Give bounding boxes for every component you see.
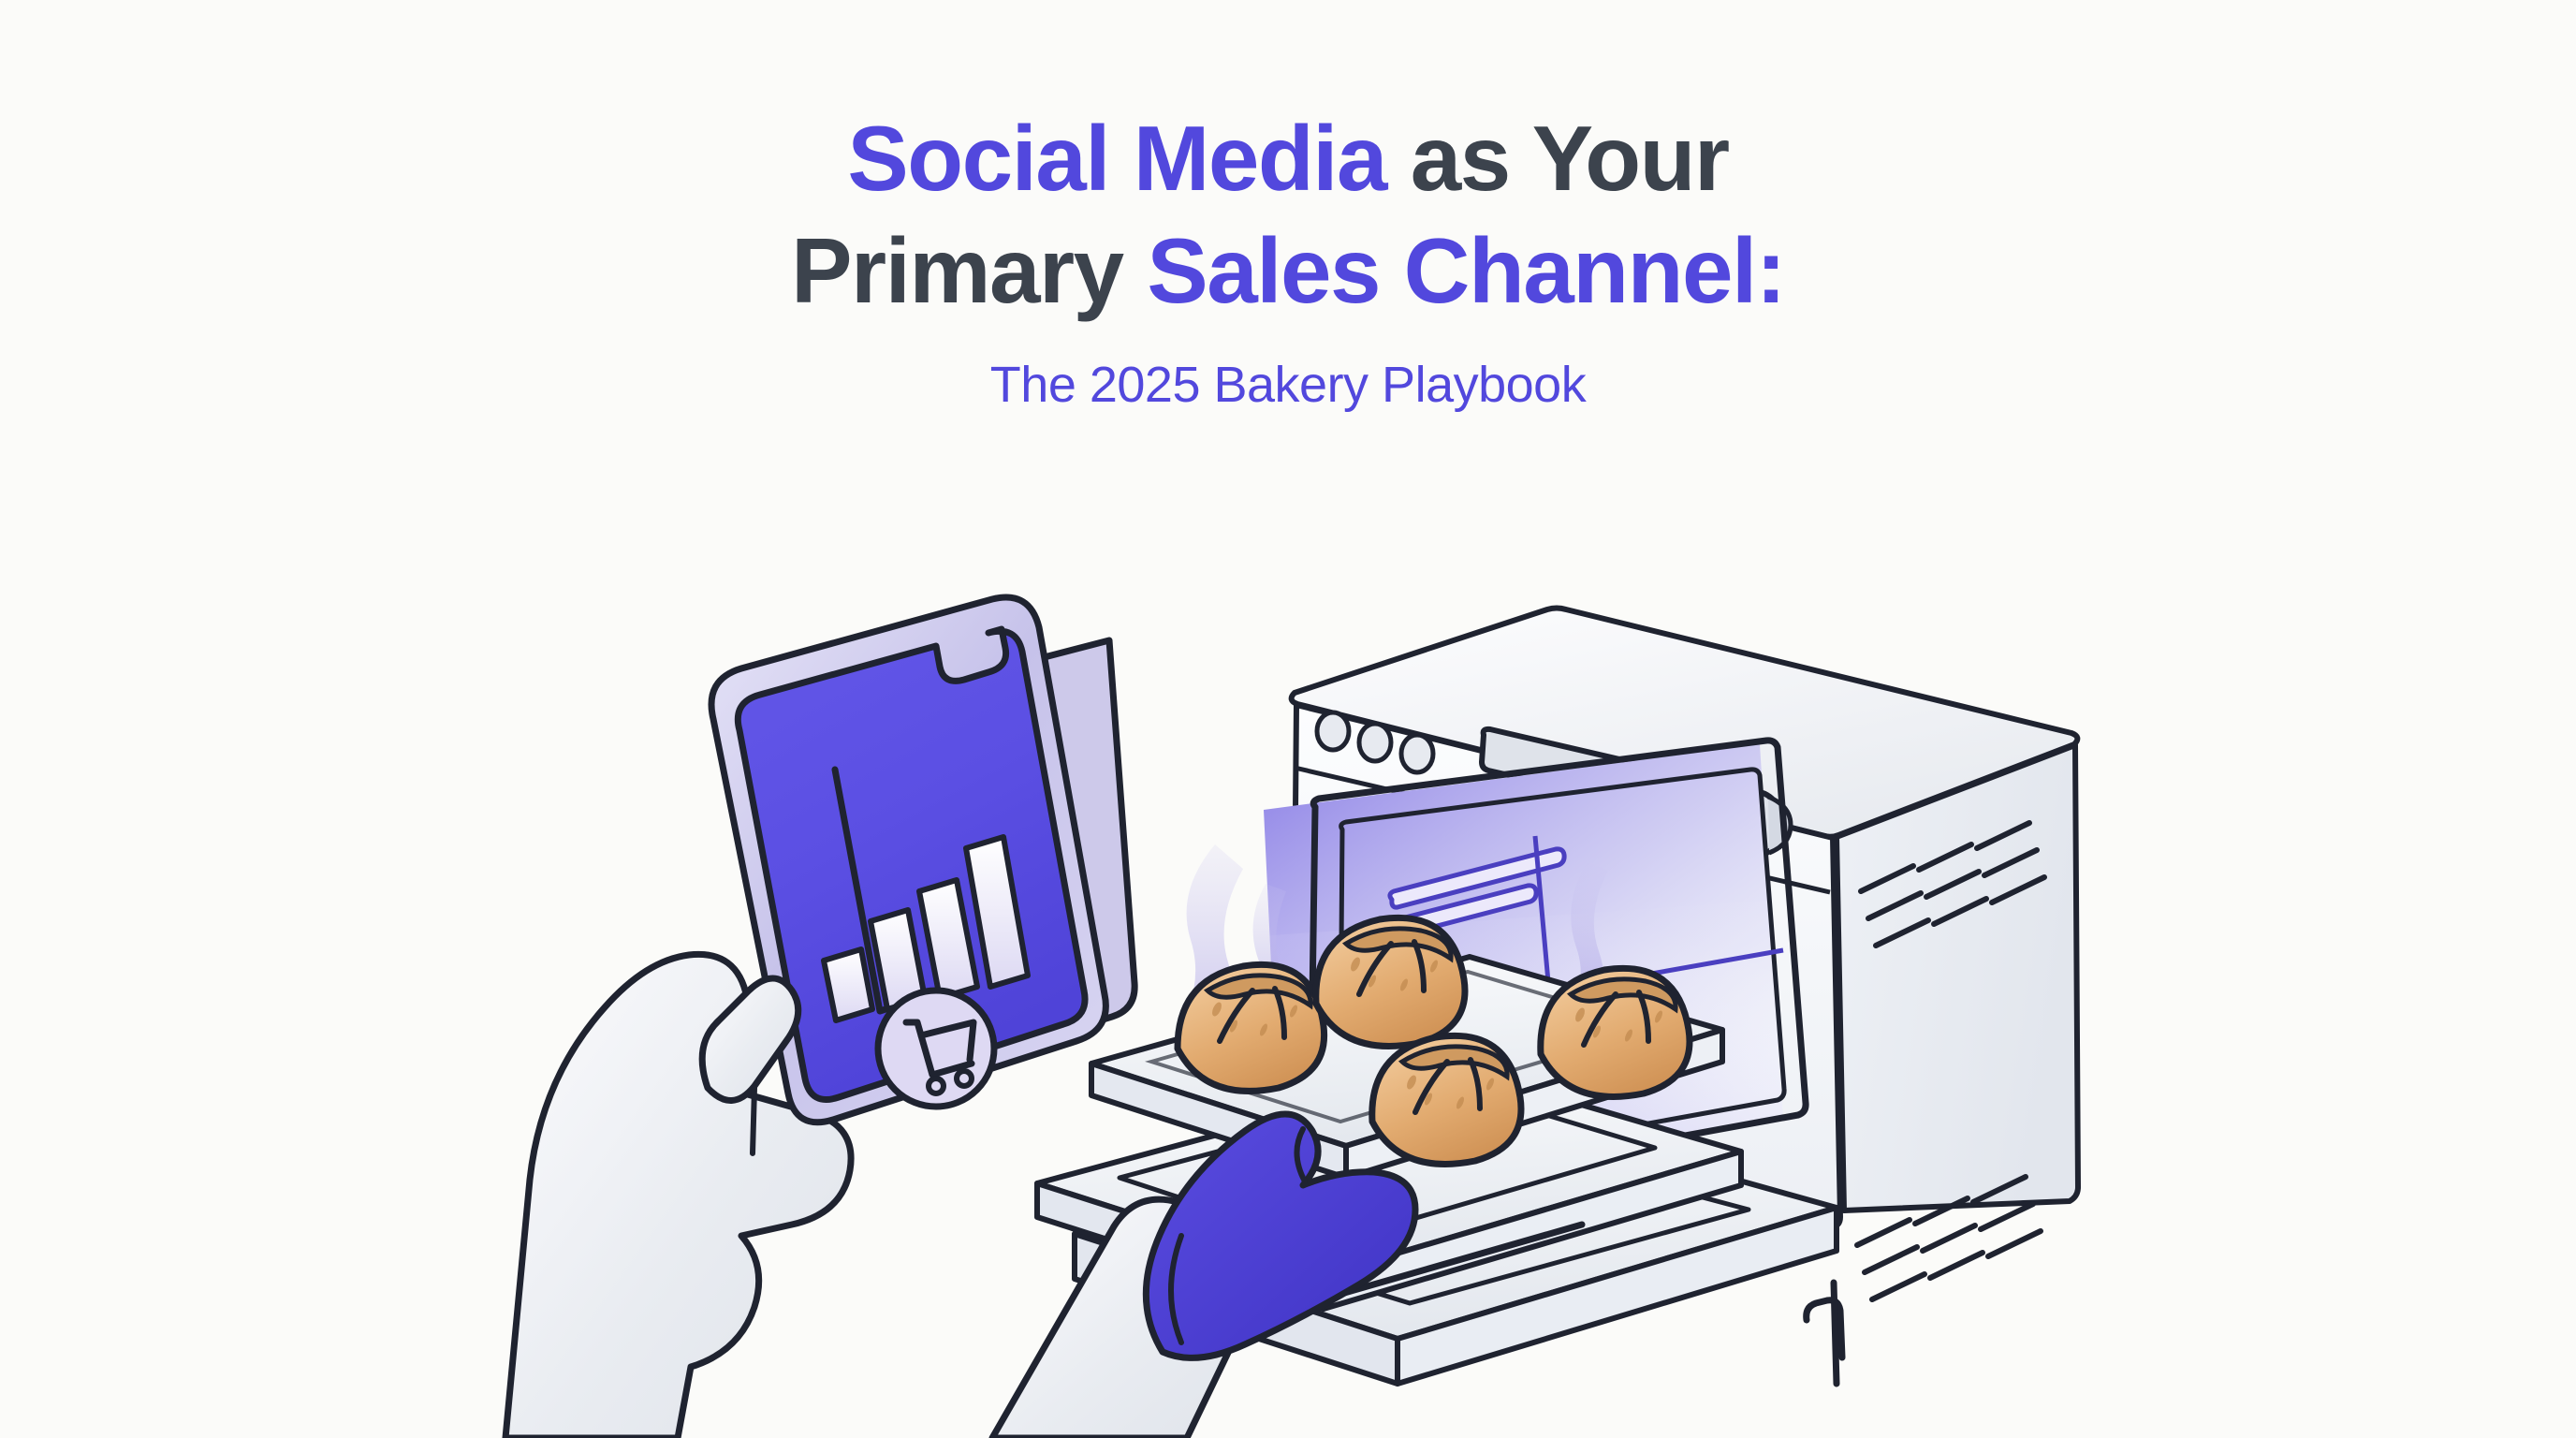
title-line-2: Primary Sales Channel: xyxy=(0,225,2576,318)
bread-roll-3 xyxy=(1372,1035,1521,1164)
bread-roll-2 xyxy=(1316,917,1465,1046)
title-accent-2: Sales Channel: xyxy=(1147,219,1785,322)
title-neutral-2: Primary xyxy=(791,219,1147,322)
bread-roll-4 xyxy=(1541,968,1690,1096)
hand-knuckle-line xyxy=(753,1088,754,1153)
title-line-1: Social Media as Your xyxy=(0,112,2576,206)
hero-heading: Social Media as Your Primary Sales Chann… xyxy=(0,112,2576,414)
shopping-cart-icon[interactable] xyxy=(878,990,994,1107)
oven-knob-3[interactable] xyxy=(1401,735,1433,772)
oven-knob-2[interactable] xyxy=(1359,724,1391,761)
bar-1 xyxy=(824,949,872,1020)
hero-subtitle: The 2025 Bakery Playbook xyxy=(0,356,2576,414)
title-neutral-1: as Your xyxy=(1386,107,1729,210)
bread-roll-1 xyxy=(1178,964,1325,1091)
hand-with-phone xyxy=(505,597,1134,1438)
poster-canvas: Social Media as Your Primary Sales Chann… xyxy=(0,0,2576,1438)
oven-door-handle-post xyxy=(1834,1283,1837,1384)
oven-knob-1[interactable] xyxy=(1317,712,1349,750)
title-accent-1: Social Media xyxy=(847,107,1386,210)
